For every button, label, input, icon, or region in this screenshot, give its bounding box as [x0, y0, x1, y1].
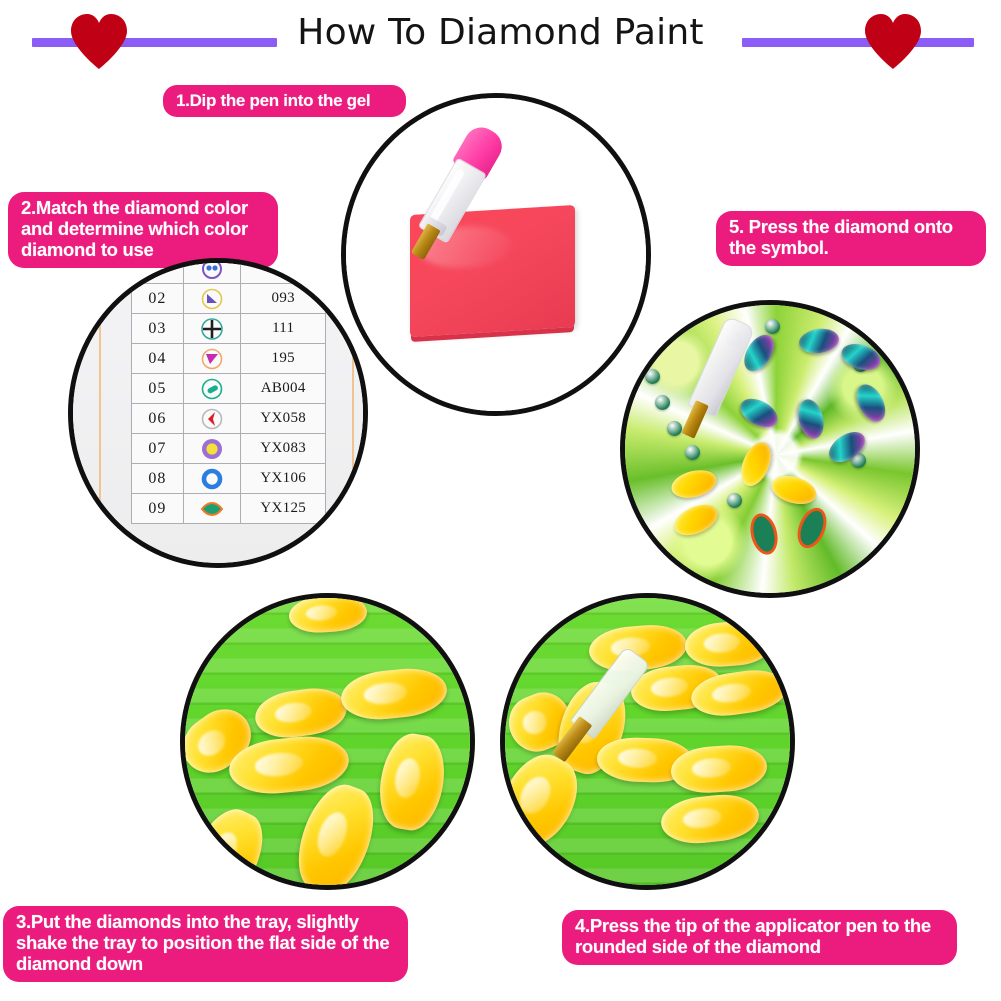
step-label-4: 4.Press the tip of the applicator pen to… — [562, 910, 957, 965]
chevron-left-icon — [183, 404, 241, 434]
table-row: 07 YX083 — [132, 434, 326, 464]
diamond-gem — [659, 791, 761, 847]
diamond-gem — [288, 593, 368, 634]
canvas-symbol-dot — [655, 395, 670, 410]
table-row: 08 YX106 — [132, 464, 326, 494]
yellow-gem — [670, 499, 723, 541]
cell-no: 02 — [132, 284, 184, 314]
cell-no: 04 — [132, 344, 184, 374]
step-label-2: 2.Match the diamond color and determine … — [8, 192, 278, 268]
table-row: 04 195 — [132, 344, 326, 374]
photo-bubble-pen-on-diamond — [500, 593, 795, 890]
leaf-icon — [183, 494, 241, 524]
cell-no: 05 — [132, 374, 184, 404]
photo-bubble-dip-pen-in-gel — [341, 93, 651, 416]
cell-no: 03 — [132, 314, 184, 344]
chart-paper: 028 02 093 03 111 — [68, 258, 368, 568]
dark-gem — [795, 397, 828, 442]
step-label-3: 3.Put the diamonds into the tray, slight… — [3, 906, 408, 982]
table-row: 03 111 — [132, 314, 326, 344]
mandala-canvas — [620, 300, 920, 598]
green-leaf-symbol — [792, 504, 832, 553]
cell-code: YX125 — [241, 494, 326, 524]
cell-code: AB004 — [241, 374, 326, 404]
diamond-gem — [684, 619, 775, 669]
diamond-gem — [339, 665, 449, 724]
cell-code: YX083 — [241, 434, 326, 464]
pen-tip — [411, 223, 441, 260]
diamond-gem — [180, 799, 275, 890]
ring-icon — [183, 464, 241, 494]
table-row: 02 093 — [132, 284, 326, 314]
filled-circle-icon — [183, 434, 241, 464]
chart-margin-line — [99, 258, 101, 568]
diamond-gem — [252, 684, 350, 742]
diamond-gem — [286, 776, 386, 890]
header: How To Diamond Paint — [0, 0, 1001, 72]
pen-tip — [681, 400, 708, 439]
yellow-gem — [669, 466, 720, 502]
photo-bubble-press-onto-symbol — [620, 300, 920, 598]
cell-no: 06 — [132, 404, 184, 434]
color-code-table: 028 02 093 03 111 — [131, 258, 326, 524]
photo-bubble-diamonds-in-tray — [180, 593, 475, 890]
double-dot-circle-icon — [183, 258, 241, 284]
canvas-symbol-dot — [645, 369, 660, 384]
green-leaf-symbol — [746, 510, 781, 557]
plus-icon — [183, 314, 241, 344]
cell-code: YX106 — [241, 464, 326, 494]
cell-no: 08 — [132, 464, 184, 494]
capsule-icon — [183, 374, 241, 404]
dark-gem — [798, 326, 841, 355]
cell-no: 07 — [132, 434, 184, 464]
yellow-gem — [768, 471, 819, 509]
diamond-gem — [373, 729, 451, 834]
chart-margin-line — [352, 258, 354, 568]
dark-gem — [851, 380, 891, 427]
green-tray — [505, 598, 790, 885]
applicator-pen — [665, 313, 758, 457]
table-row: 09 YX125 — [132, 494, 326, 524]
yellow-gem-target — [735, 438, 776, 490]
table-row: 05 AB004 — [132, 374, 326, 404]
cell-no: 09 — [132, 494, 184, 524]
green-tray — [185, 598, 470, 885]
cell-code: 093 — [241, 284, 326, 314]
step-label-5: 5. Press the diamond onto the symbol. — [716, 211, 986, 266]
cell-code: 111 — [241, 314, 326, 344]
cell-code: 195 — [241, 344, 326, 374]
cell-code: YX058 — [241, 404, 326, 434]
photo-bubble-color-chart: 028 02 093 03 111 — [68, 258, 368, 568]
canvas-symbol-dot — [765, 319, 780, 334]
page-title: How To Diamond Paint — [0, 12, 1001, 53]
gel-scene — [346, 98, 646, 411]
triangle-down-icon — [183, 344, 241, 374]
cell-code: 028 — [241, 258, 326, 284]
infographic-root: How To Diamond Paint 1.Dip the pen into … — [0, 0, 1001, 1001]
dark-gem — [838, 339, 883, 374]
triangle-icon — [183, 284, 241, 314]
canvas-symbol-dot — [727, 493, 742, 508]
dark-gem — [736, 393, 783, 433]
table-row: 06 YX058 — [132, 404, 326, 434]
